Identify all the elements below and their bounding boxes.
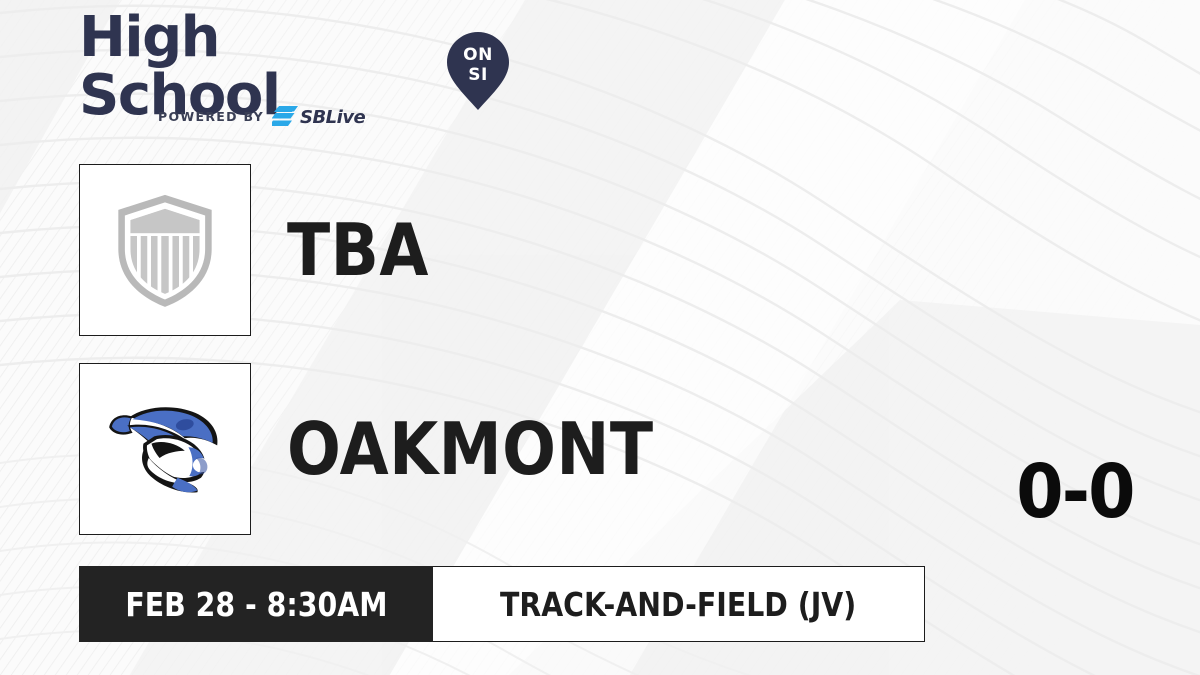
matchup-card: High School ON SI POWERED BY [0,0,1200,675]
sblive-wordmark-text: SBLive [300,107,366,127]
sport-chip[interactable]: TRACK-AND-FIELD (JV) [433,566,925,642]
generic-shield-placeholder-icon [109,189,221,311]
team-row-home[interactable]: OAKMONT [79,363,704,535]
powered-by-label: POWERED BY [158,109,264,124]
game-datetime-chip[interactable]: FEB 28 - 8:30AM [79,566,433,642]
viking-head-mascot-icon [102,395,228,503]
pin-line-1-text: ON [463,45,493,65]
team-row-away[interactable]: TBA [79,164,448,336]
brand-header: High School ON SI POWERED BY [79,36,509,136]
sport-text: TRACK-AND-FIELD (JV) [500,585,856,624]
team-name-away: TBA [287,214,429,286]
sblive-logo: SBLive [272,105,390,127]
score-display: 0-0 [1017,455,1134,529]
team-name-home: OAKMONT [287,413,654,485]
brand-title-row: High School ON SI [79,36,509,98]
pin-line-2-text: SI [468,65,488,85]
team-logo-box-home[interactable] [79,363,251,535]
on-si-pin-icon: ON SI [447,32,509,110]
team-logo-box-away[interactable] [79,164,251,336]
game-datetime-text: FEB 28 - 8:30AM [125,585,387,624]
game-info-bar: FEB 28 - 8:30AM TRACK-AND-FIELD (JV) [79,566,925,642]
